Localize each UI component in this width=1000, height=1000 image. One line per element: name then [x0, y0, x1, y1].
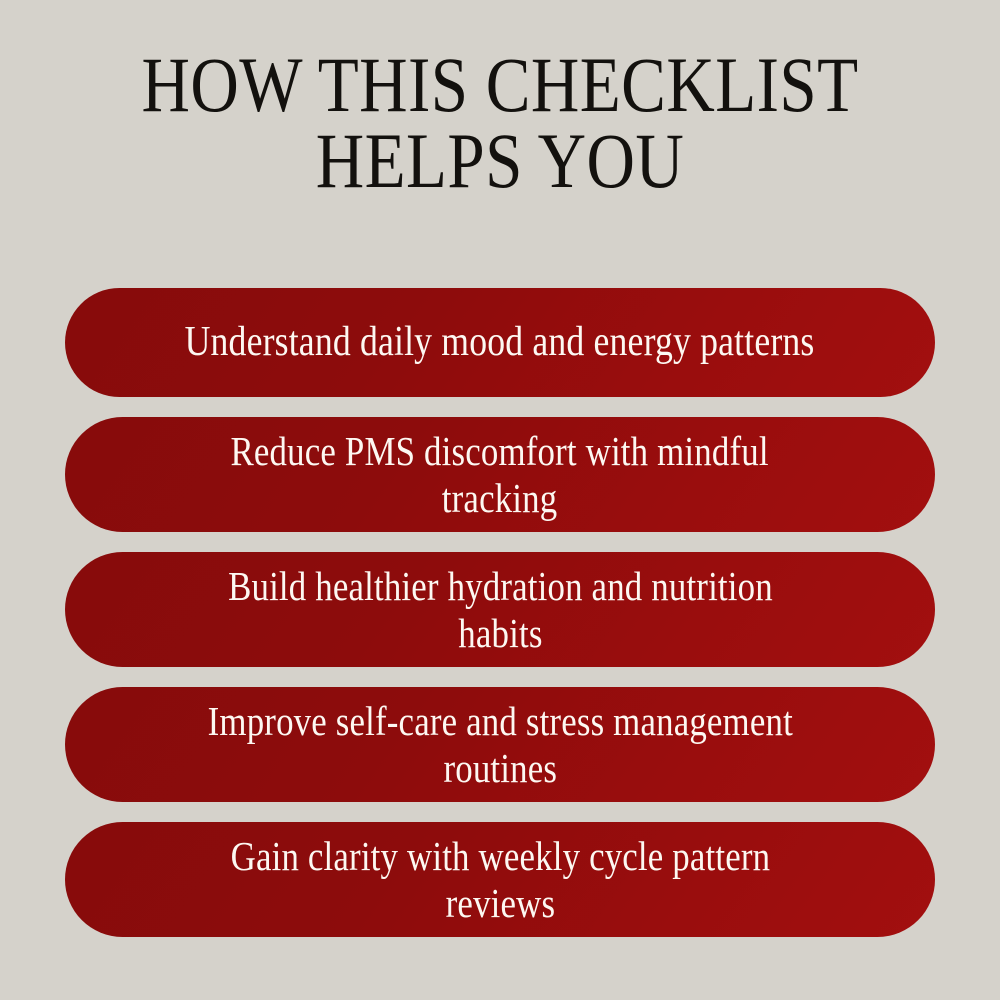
benefit-item-2[interactable]: Reduce PMS discomfort with mindful track… [65, 417, 935, 532]
page-title-line-1: HOW THIS CHECKLIST [70, 52, 930, 118]
poster-canvas: HOW THIS CHECKLIST HELPS YOU Understand … [0, 0, 1000, 1000]
page-title-line-2: HELPS YOU [70, 128, 930, 194]
benefit-item-1-label: Understand daily mood and energy pattern… [185, 319, 815, 366]
benefit-item-2-label: Reduce PMS discomfort with mindful track… [231, 428, 769, 522]
benefit-item-3-label: Build healthier hydration and nutrition … [228, 563, 773, 657]
benefit-item-5[interactable]: Gain clarity with weekly cycle pattern r… [65, 822, 935, 937]
benefit-item-3[interactable]: Build healthier hydration and nutrition … [65, 552, 935, 667]
benefit-item-4[interactable]: Improve self-care and stress management … [65, 687, 935, 802]
benefit-item-4-label: Improve self-care and stress management … [207, 698, 792, 792]
benefits-list: Understand daily mood and energy pattern… [65, 288, 935, 937]
benefit-item-5-label: Gain clarity with weekly cycle pattern r… [230, 833, 770, 927]
page-title: HOW THIS CHECKLIST HELPS YOU [0, 52, 1000, 194]
benefit-item-1[interactable]: Understand daily mood and energy pattern… [65, 288, 935, 397]
